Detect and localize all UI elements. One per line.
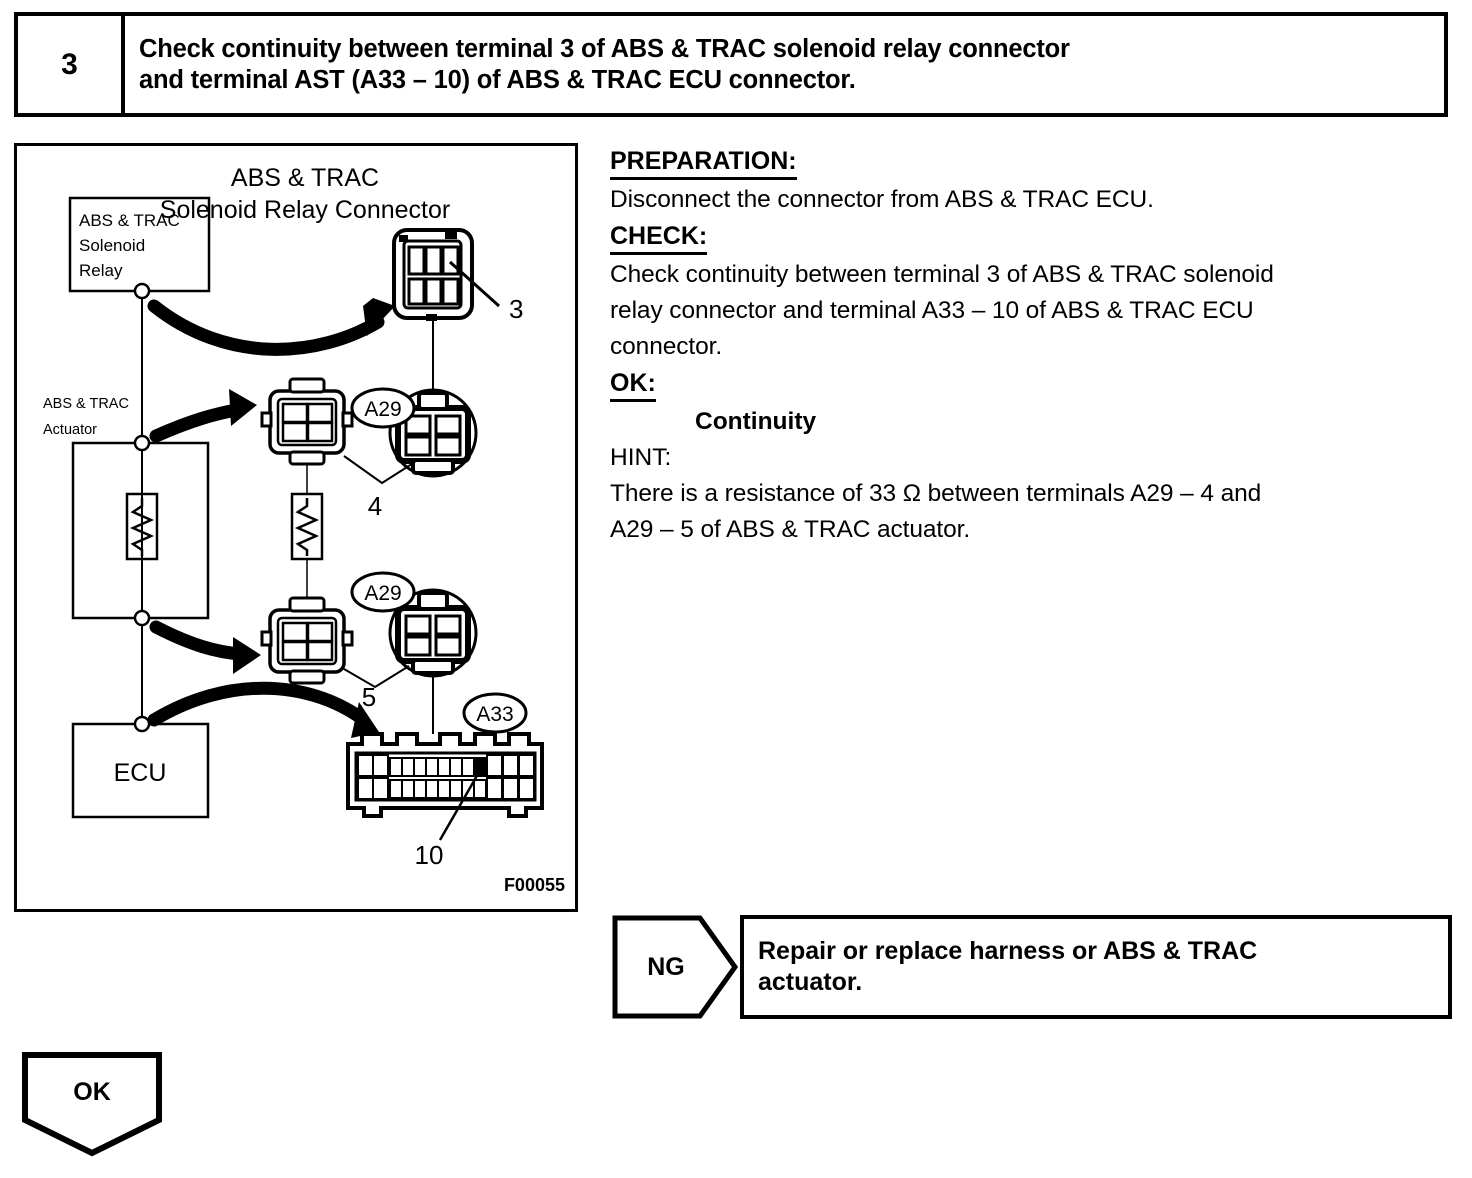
check-body-line-2: relay connector and terminal A33 – 10 of…: [610, 293, 1460, 329]
solenoid-relay-label-line-3: Relay: [79, 261, 123, 280]
terminal-label-ecu: 10: [415, 840, 444, 870]
check-body-line-1: Check continuity between terminal 3 of A…: [610, 257, 1460, 293]
node-actuator-bottom: [135, 611, 149, 625]
diagram-title-line-2: Solenoid Relay Connector: [160, 196, 450, 224]
connector-code-a29-upper: A29: [364, 398, 401, 421]
harness-resistor-zigzag: [298, 498, 316, 556]
ng-action-line-1: Repair or replace harness or ABS & TRAC: [758, 936, 1257, 967]
ng-action-line-2: actuator.: [758, 967, 1257, 998]
preparation-body: Disconnect the connector from ABS & TRAC…: [610, 182, 1460, 218]
ok-label: OK: [22, 1052, 162, 1132]
procedure-text-column: PREPARATION: Disconnect the connector fr…: [610, 146, 1460, 548]
wiring-diagram-panel: ABS & TRAC Solenoid Relay Connector ABS …: [14, 143, 578, 912]
terminal-leader-a29-lower: [344, 666, 409, 687]
connector-code-a33: A33: [476, 703, 513, 726]
callout-arrow-relay: [154, 298, 395, 349]
diagram-title-line-1: ABS & TRAC: [231, 164, 379, 192]
a29-lower-small-connector: [262, 598, 352, 683]
check-heading: CHECK:: [610, 221, 707, 255]
step-header-box: 3 Check continuity between terminal 3 of…: [14, 12, 1448, 117]
terminal-label-a29-lower: 5: [362, 682, 376, 712]
terminal-label-relay: 3: [509, 294, 523, 324]
node-relay: [135, 284, 149, 298]
hint-line-1: There is a resistance of 33 Ω between te…: [610, 476, 1460, 512]
callout-arrow-a29-lower: [156, 627, 261, 674]
relay-connector-illustration: 3: [394, 230, 523, 398]
check-body-line-3: connector.: [610, 329, 1460, 365]
ok-result-block: OK: [22, 1052, 162, 1157]
actuator-label-line-1: ABS & TRAC: [43, 396, 129, 412]
preparation-heading: PREPARATION:: [610, 146, 797, 180]
hint-heading: HINT:: [610, 440, 1460, 476]
ok-heading: OK:: [610, 368, 656, 402]
wiring-diagram: ABS & TRAC Solenoid Relay Connector ABS …: [17, 146, 575, 909]
ng-label: NG: [612, 915, 720, 1019]
ecu-box-label: ECU: [114, 759, 167, 787]
ok-value: Continuity: [610, 404, 1460, 440]
a29-upper-small-connector: [262, 379, 352, 494]
step-instruction: Check continuity between terminal 3 of A…: [125, 16, 1444, 113]
solenoid-relay-label-line-2: Solenoid: [79, 236, 145, 255]
figure-id: F00055: [504, 875, 565, 895]
step-instruction-line-2: and terminal AST (A33 – 10) of ABS & TRA…: [139, 65, 1070, 96]
a33-ecu-connector-illustration: 10: [348, 734, 542, 870]
actuator-label-line-2: Actuator: [43, 422, 97, 438]
callout-arrow-ecu: [154, 688, 379, 738]
node-actuator-top: [135, 436, 149, 450]
callout-arrow-a29-upper: [156, 389, 257, 436]
ng-action-box: Repair or replace harness or ABS & TRAC …: [740, 915, 1452, 1019]
hint-line-2: A29 – 5 of ABS & TRAC actuator.: [610, 512, 1460, 548]
connector-code-a29-lower: A29: [364, 582, 401, 605]
step-instruction-line-1: Check continuity between terminal 3 of A…: [139, 34, 1070, 65]
ng-result-row: NG Repair or replace harness or ABS & TR…: [612, 912, 1452, 1022]
terminal-label-a29-upper: 4: [368, 491, 382, 521]
step-number: 3: [18, 16, 125, 113]
node-ecu: [135, 717, 149, 731]
solenoid-relay-label-line-1: ABS & TRAC: [79, 211, 180, 230]
